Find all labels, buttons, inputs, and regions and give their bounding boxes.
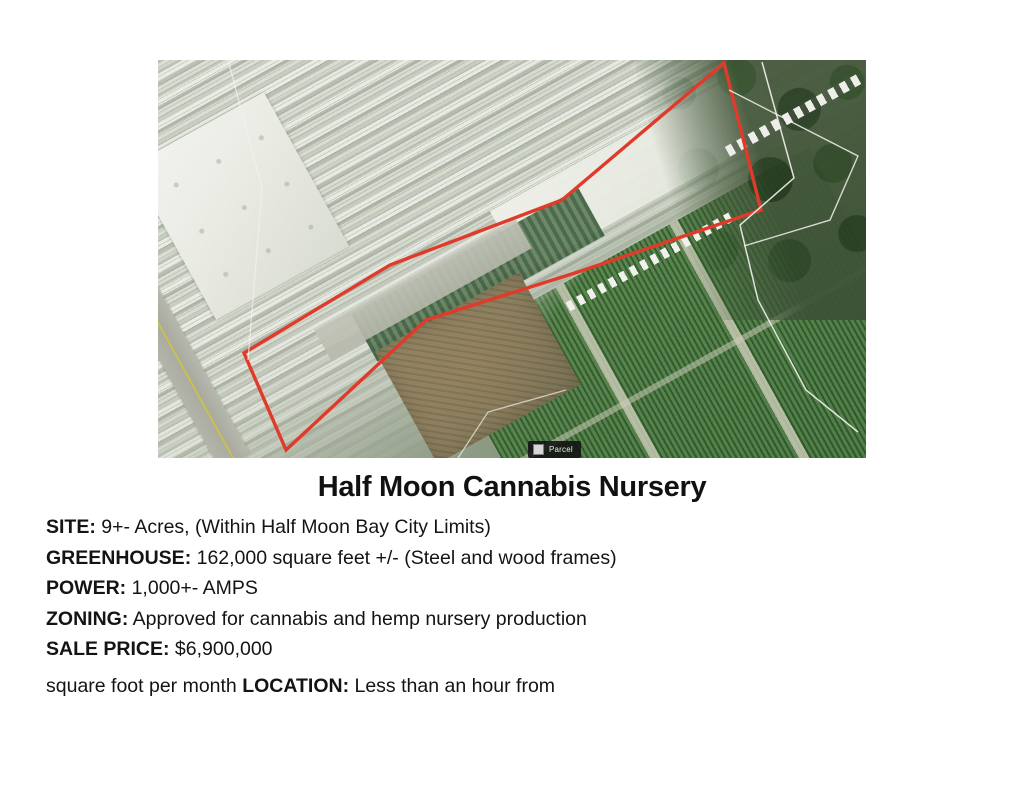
spec-value-greenhouse: 162,000 square feet +/- (Steel and wood … xyxy=(191,547,616,569)
spec-line-power: POWER: 1,000+- AMPS xyxy=(46,573,986,604)
spec-line-zoning: ZONING: Approved for cannabis and hemp n… xyxy=(46,604,986,635)
spec-label-site: SITE: xyxy=(46,516,96,538)
spec-line-sale-price: SALE PRICE: $6,900,000 xyxy=(46,634,986,665)
spec-label-power: POWER: xyxy=(46,577,126,599)
spec-line-site: SITE: 9+- Acres, (Within Half Moon Bay C… xyxy=(46,512,986,543)
aerial-parcel-map: Parcel xyxy=(158,60,866,458)
parcel-legend: Parcel xyxy=(528,441,581,458)
footnote-tail-text: Less than an hour from xyxy=(349,675,555,697)
spec-value-power: 1,000+- AMPS xyxy=(126,577,258,599)
listing-footnote: square foot per month LOCATION: Less tha… xyxy=(46,672,666,700)
footnote-lead-text: square foot per month xyxy=(46,675,242,697)
spec-line-greenhouse: GREENHOUSE: 162,000 square feet +/- (Ste… xyxy=(46,543,986,574)
spec-label-sale-price: SALE PRICE: xyxy=(46,638,170,660)
spec-value-site: 9+- Acres, (Within Half Moon Bay City Li… xyxy=(96,516,491,538)
spec-value-sale-price: $6,900,000 xyxy=(170,638,273,660)
spec-label-greenhouse: GREENHOUSE: xyxy=(46,547,191,569)
spec-label-zoning: ZONING: xyxy=(46,608,128,630)
listing-spec-list: SITE: 9+- Acres, (Within Half Moon Bay C… xyxy=(46,512,986,665)
parcel-legend-swatch-icon xyxy=(533,444,544,455)
page-title: Half Moon Cannabis Nursery xyxy=(0,471,1024,504)
parcel-legend-label: Parcel xyxy=(549,446,573,454)
spec-value-zoning: Approved for cannabis and hemp nursery p… xyxy=(128,608,587,630)
footnote-label-location: LOCATION: xyxy=(242,675,349,697)
